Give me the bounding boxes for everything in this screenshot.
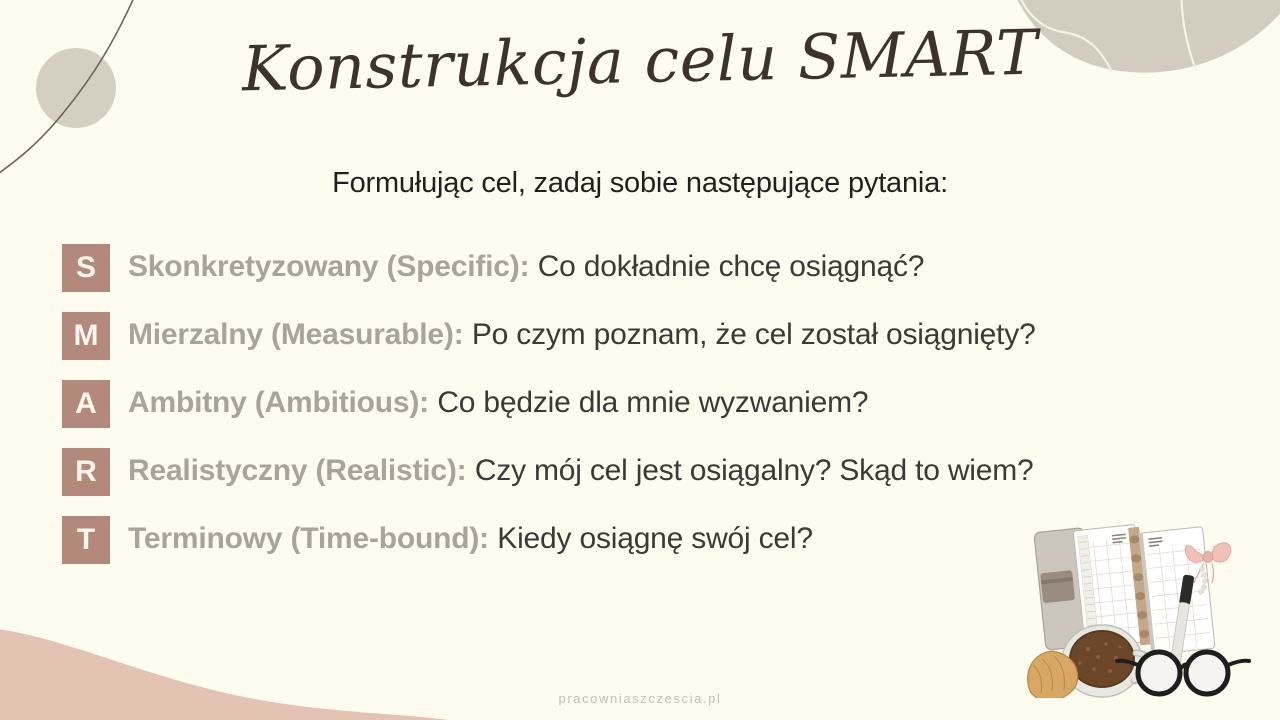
pink-wave-bottom-left: [0, 628, 470, 720]
letter-badge-s: S: [62, 244, 110, 292]
footer-watermark: pracowniaszczescia.pl: [0, 691, 1280, 706]
smart-row-t: T Terminowy (Time-bound): Kiedy osiągnę …: [62, 515, 1262, 564]
title-block: Konstrukcja celu SMART: [0, 28, 1280, 93]
letter-badge-a: A: [62, 380, 110, 428]
smart-row-s: S Skonkretyzowany (Specific): Co dokładn…: [62, 243, 1262, 292]
smart-row-text: Skonkretyzowany (Specific): Co dokładnie…: [128, 250, 924, 285]
smart-question-m: Po czym poznam, że cel został osiągnięty…: [472, 318, 1036, 351]
smart-list: S Skonkretyzowany (Specific): Co dokładn…: [62, 243, 1262, 583]
slide-canvas: Konstrukcja celu SMART Formułując cel, z…: [0, 0, 1280, 720]
smart-question-a: Co będzie dla mnie wyzwaniem?: [437, 386, 868, 419]
smart-row-text: Terminowy (Time-bound): Kiedy osiągnę sw…: [128, 522, 813, 557]
smart-row-text: Ambitny (Ambitious): Co będzie dla mnie …: [128, 386, 868, 421]
smart-label-m: Mierzalny (Measurable):: [128, 318, 464, 351]
smart-row-text: Realistyczny (Realistic): Czy mój cel je…: [128, 454, 1034, 489]
smart-row-text: Mierzalny (Measurable): Po czym poznam, …: [128, 318, 1036, 353]
letter-badge-m: M: [62, 312, 110, 360]
smart-row-m: M Mierzalny (Measurable): Po czym poznam…: [62, 311, 1262, 360]
smart-question-t: Kiedy osiągnę swój cel?: [497, 522, 813, 555]
smart-question-r: Czy mój cel jest osiągalny? Skąd to wiem…: [475, 454, 1034, 487]
smart-label-a: Ambitny (Ambitious):: [128, 386, 429, 419]
letter-badge-r: R: [62, 448, 110, 496]
letter-badge-t: T: [62, 516, 110, 564]
smart-row-a: A Ambitny (Ambitious): Co będzie dla mni…: [62, 379, 1262, 428]
subtitle: Formułując cel, zadaj sobie następujące …: [0, 166, 1280, 201]
smart-question-s: Co dokładnie chcę osiągnąć?: [538, 250, 925, 283]
page-title: Konstrukcja celu SMART: [241, 20, 1038, 102]
smart-label-s: Skonkretyzowany (Specific):: [128, 250, 529, 283]
smart-label-r: Realistyczny (Realistic):: [128, 454, 466, 487]
smart-label-t: Terminowy (Time-bound):: [128, 522, 489, 555]
smart-row-r: R Realistyczny (Realistic): Czy mój cel …: [62, 447, 1262, 496]
